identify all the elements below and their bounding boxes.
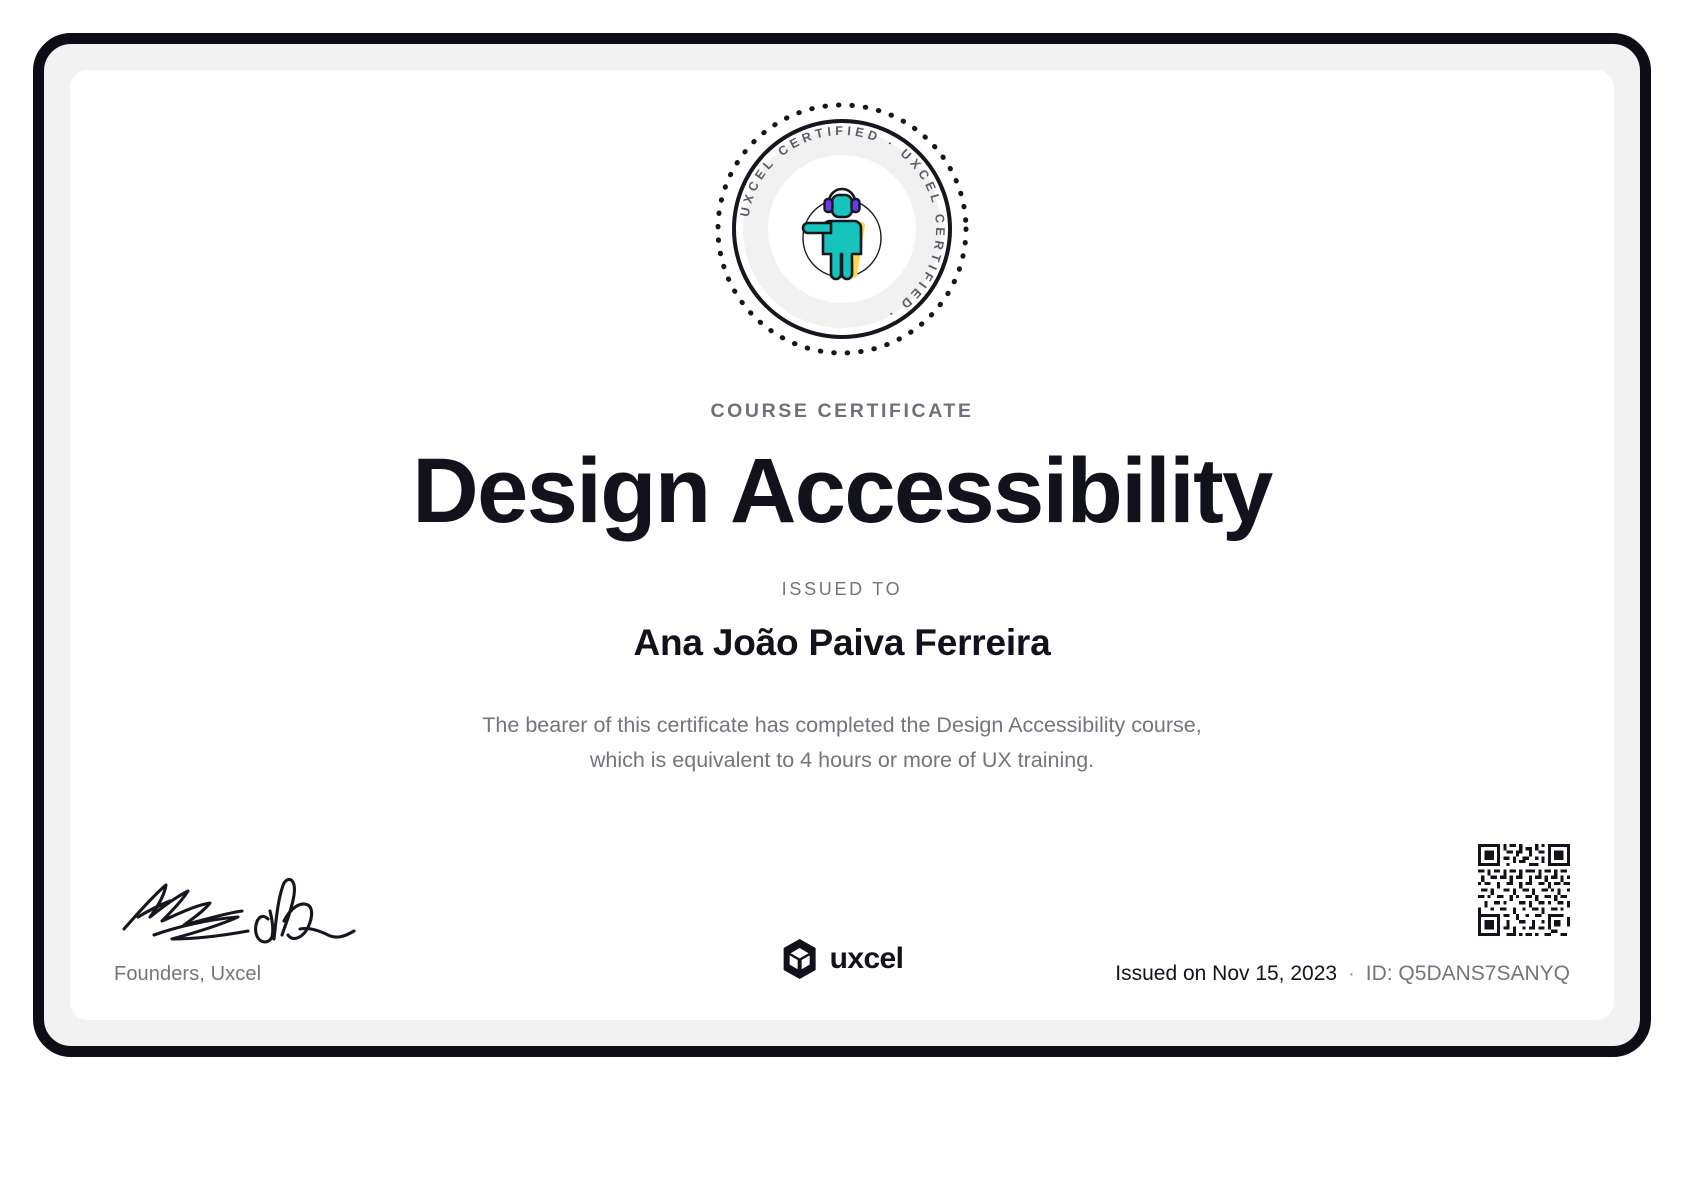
certificate-footer: Founders, Uxcel uxcel: [70, 806, 1614, 986]
certificate-frame: UXCEL CERTIFIED · UXCEL CERTIFIED ·: [33, 33, 1651, 1057]
description-line-2: which is equivalent to 4 hours or more o…: [482, 743, 1201, 778]
uxcel-certified-badge: UXCEL CERTIFIED · UXCEL CERTIFIED ·: [712, 99, 972, 359]
certificate-body: UXCEL CERTIFIED · UXCEL CERTIFIED ·: [70, 70, 1614, 1020]
issued-to-label: ISSUED TO: [782, 579, 903, 600]
certificate-id: ID: Q5DANS7SANYQ: [1366, 962, 1570, 985]
qr-code-icon[interactable]: [1478, 844, 1570, 936]
course-title: Design Accessibility: [412, 445, 1271, 537]
signature-block: Founders, Uxcel: [114, 861, 444, 986]
issued-on-date: Issued on Nov 15, 2023: [1115, 962, 1337, 985]
recipient-name: Ana João Paiva Ferreira: [634, 622, 1051, 664]
description-line-1: The bearer of this certificate has compl…: [482, 708, 1201, 743]
signature-icon: [114, 861, 444, 947]
uxcel-brand-name: uxcel: [830, 942, 904, 976]
course-certificate-eyebrow: COURSE CERTIFICATE: [710, 400, 973, 423]
uxcel-brand: uxcel: [781, 938, 904, 980]
issue-meta-line: Issued on Nov 15, 2023 · ID: Q5DANS7SANY…: [1115, 962, 1570, 986]
certificate-meta: Issued on Nov 15, 2023 · ID: Q5DANS7SANY…: [1115, 844, 1570, 986]
uxcel-hexagon-cube-logo-icon: [781, 938, 819, 980]
meta-separator: ·: [1343, 962, 1360, 985]
signature-caption: Founders, Uxcel: [114, 963, 444, 986]
certificate-description: The bearer of this certificate has compl…: [482, 708, 1201, 778]
